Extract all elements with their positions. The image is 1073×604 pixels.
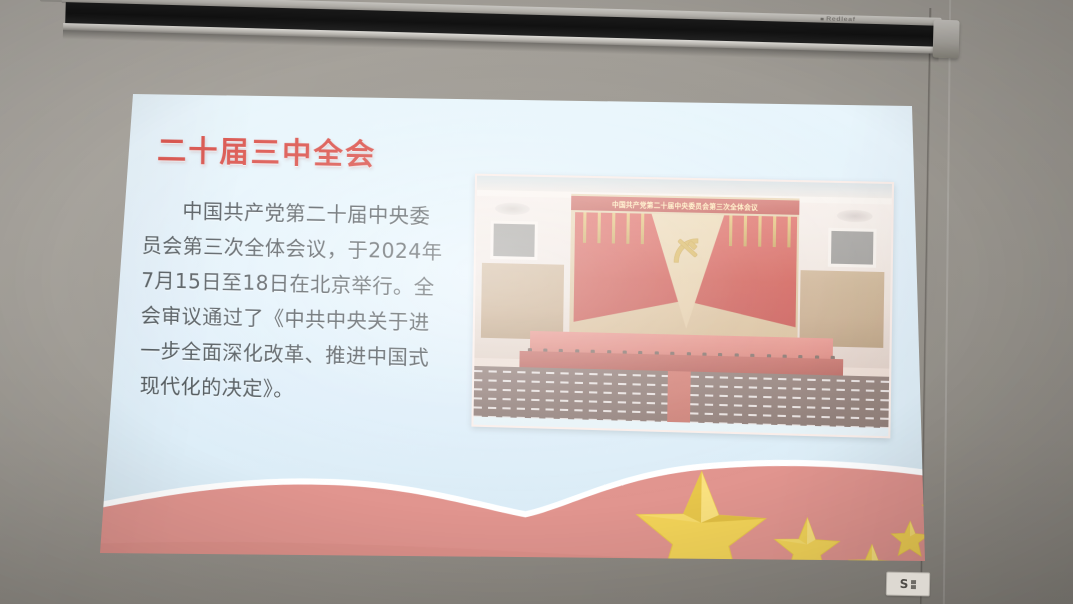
flag-spear (773, 216, 777, 247)
flag-spear (729, 215, 733, 246)
wall-motif-left (495, 202, 530, 215)
roller-brand-label: Redleaf (820, 16, 856, 23)
wall-sticker: S (886, 572, 930, 597)
brand-dot-icon (820, 17, 823, 20)
hall-wood-panel-right (799, 270, 884, 348)
hall-wood-panel-left (481, 263, 564, 340)
wall-motif-right (837, 210, 873, 223)
roller-endcap (933, 20, 960, 59)
hall-display-panel-right (828, 228, 877, 268)
hall-banner-text: 中国共产党第二十届中央委员会第三次全体会议 (612, 198, 758, 212)
flag-spear (597, 213, 601, 244)
photo-scene: Redleaf 二十届三中全会 中国共产党第二十届中央委员会第三次全体会议，于2… (0, 0, 1073, 604)
flag-spear (787, 217, 791, 248)
slide-title: 二十届三中全会 (157, 127, 377, 173)
hall-display-panel-left (490, 221, 538, 261)
sticker-glyph: S (900, 578, 909, 590)
sticker-marks-icon (911, 580, 916, 589)
slide-photo-great-hall: 中国共产党第二十届中央委员会第三次全体会议 (471, 174, 894, 439)
hammer-and-sickle-icon (665, 230, 709, 274)
flag-spear (758, 216, 762, 247)
flag-spear (744, 216, 748, 247)
presentation-slide: 二十届三中全会 中国共产党第二十届中央委员会第三次全体会议，于2024年7月15… (89, 88, 954, 596)
flag-spear (641, 214, 645, 245)
hall-center-aisle (667, 371, 691, 429)
flag-spear (583, 212, 587, 243)
slide-body-text: 中国共产党第二十届中央委员会第三次全体会议，于2024年7月15日至18日在北京… (140, 193, 447, 412)
roller-brand-text: Redleaf (826, 16, 856, 23)
flag-spear (626, 213, 630, 244)
flag-spear (612, 213, 616, 244)
